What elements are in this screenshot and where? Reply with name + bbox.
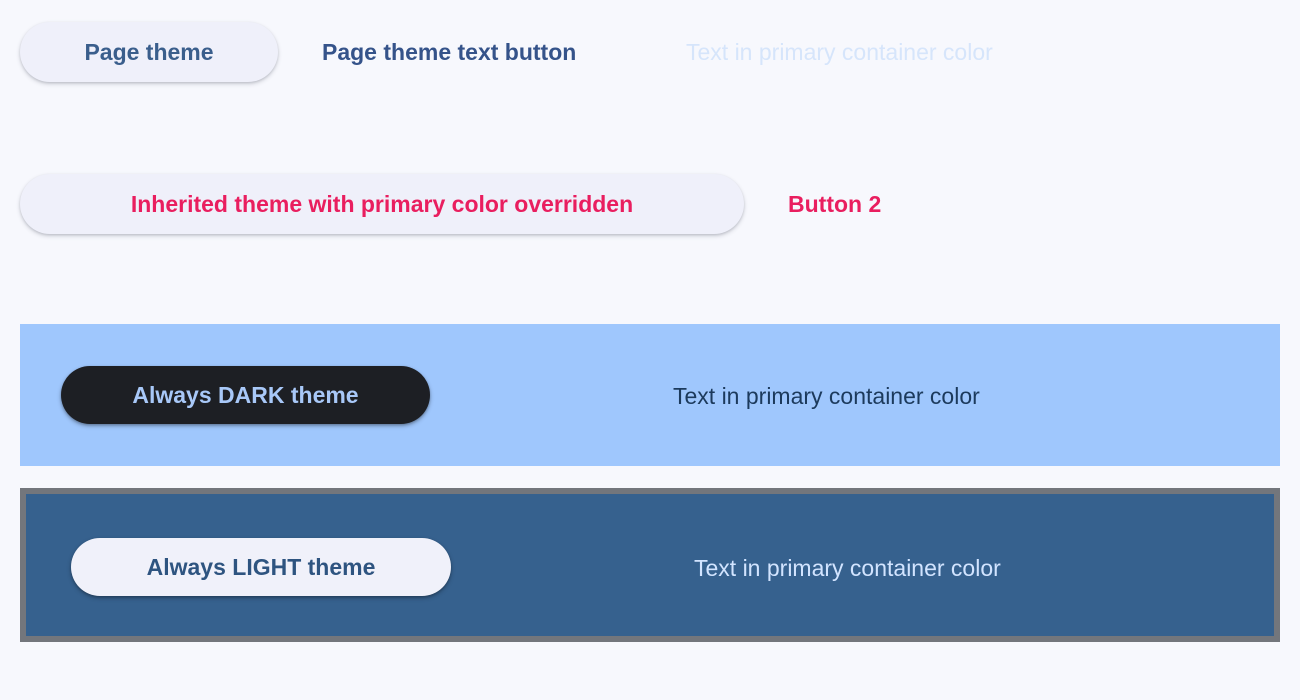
always-dark-theme-button[interactable]: Always DARK theme bbox=[61, 366, 430, 424]
page-theme-text-button[interactable]: Page theme text button bbox=[310, 30, 588, 74]
theme-demo-stage: Page theme Page theme text button Text i… bbox=[0, 0, 1300, 700]
inherited-theme-filled-button[interactable]: Inherited theme with primary color overr… bbox=[20, 174, 744, 234]
primary-container-text-dark: Text in primary container color bbox=[673, 374, 980, 418]
always-light-theme-band: Always LIGHT theme Text in primary conta… bbox=[26, 494, 1274, 636]
primary-container-text-page-theme: Text in primary container color bbox=[686, 30, 993, 74]
inherited-theme-text-button[interactable]: Button 2 bbox=[776, 182, 893, 226]
always-light-theme-band-border: Always LIGHT theme Text in primary conta… bbox=[20, 488, 1280, 642]
always-light-theme-button[interactable]: Always LIGHT theme bbox=[71, 538, 451, 596]
always-dark-theme-band: Always DARK theme Text in primary contai… bbox=[20, 324, 1280, 466]
primary-container-text-light: Text in primary container color bbox=[694, 546, 1001, 590]
page-theme-filled-button[interactable]: Page theme bbox=[20, 22, 278, 82]
